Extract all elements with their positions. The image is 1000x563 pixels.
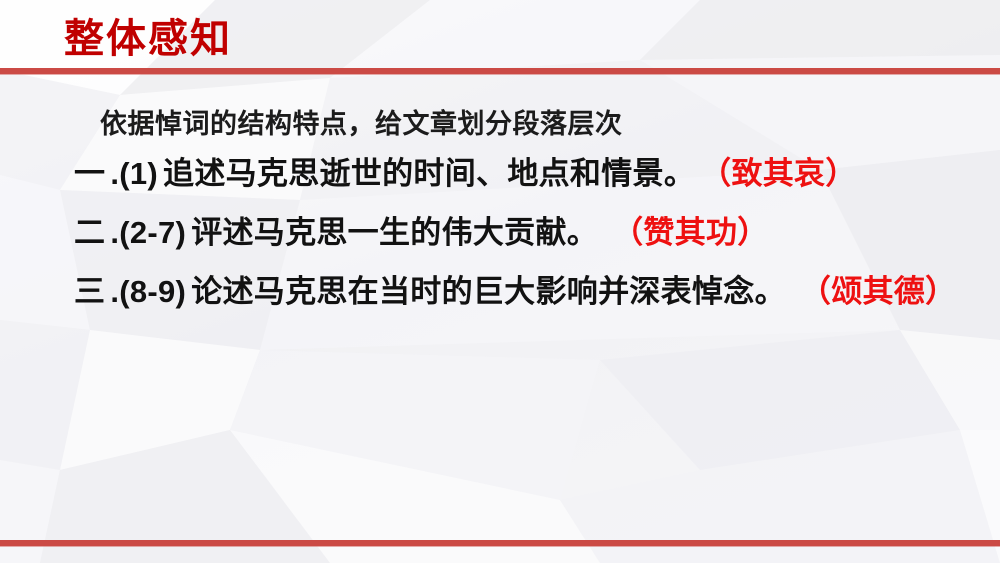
outline-item-2: 二.(2-7)评述马克思一生的伟大贡献。（赞其功）	[74, 209, 978, 256]
outline-item-1-marker: 一	[74, 156, 105, 191]
slide-title: 整体感知	[64, 14, 232, 64]
outline-item-3-marker: 三	[74, 274, 105, 309]
outline-item-2-text: 评述马克思一生的伟大贡献。	[191, 215, 598, 250]
outline-item-3-text: 论述马克思在当时的巨大影响并深表悼念。	[191, 274, 786, 309]
outline-item-1: 一.(1)追述马克思逝世的时间、地点和情景。（致其哀）	[74, 150, 978, 197]
slide-body: 依据悼词的结构特点，给文章划分段落层次 一.(1)追述马克思逝世的时间、地点和情…	[0, 104, 1000, 315]
question-prompt: 依据悼词的结构特点，给文章划分段落层次	[74, 104, 978, 144]
outline-item-1-separator: .	[110, 156, 119, 191]
slide-canvas: 整体感知 依据悼词的结构特点，给文章划分段落层次 一.(1)追述马克思逝世的时间…	[0, 0, 1000, 563]
footer-divider-bottom	[0, 540, 1000, 546]
outline-item-3-range: (8-9)	[119, 274, 186, 309]
outline-item-2-range: (2-7)	[119, 215, 186, 250]
outline-item-2-annotation: （赞其功）	[612, 215, 769, 250]
outline-item-3: 三.(8-9)论述马克思在当时的巨大影响并深表悼念。（颂其德）	[74, 268, 978, 315]
title-divider-top	[0, 68, 1000, 74]
outline-item-1-text: 追述马克思逝世的时间、地点和情景。	[163, 156, 695, 191]
outline-item-2-separator: .	[110, 215, 119, 250]
outline-item-3-separator: .	[110, 274, 119, 309]
outline-item-2-marker: 二	[74, 215, 105, 250]
outline-item-3-annotation: （颂其德）	[800, 274, 957, 309]
outline-item-1-annotation: （致其哀）	[700, 156, 857, 191]
outline-item-1-range: (1)	[119, 156, 158, 191]
